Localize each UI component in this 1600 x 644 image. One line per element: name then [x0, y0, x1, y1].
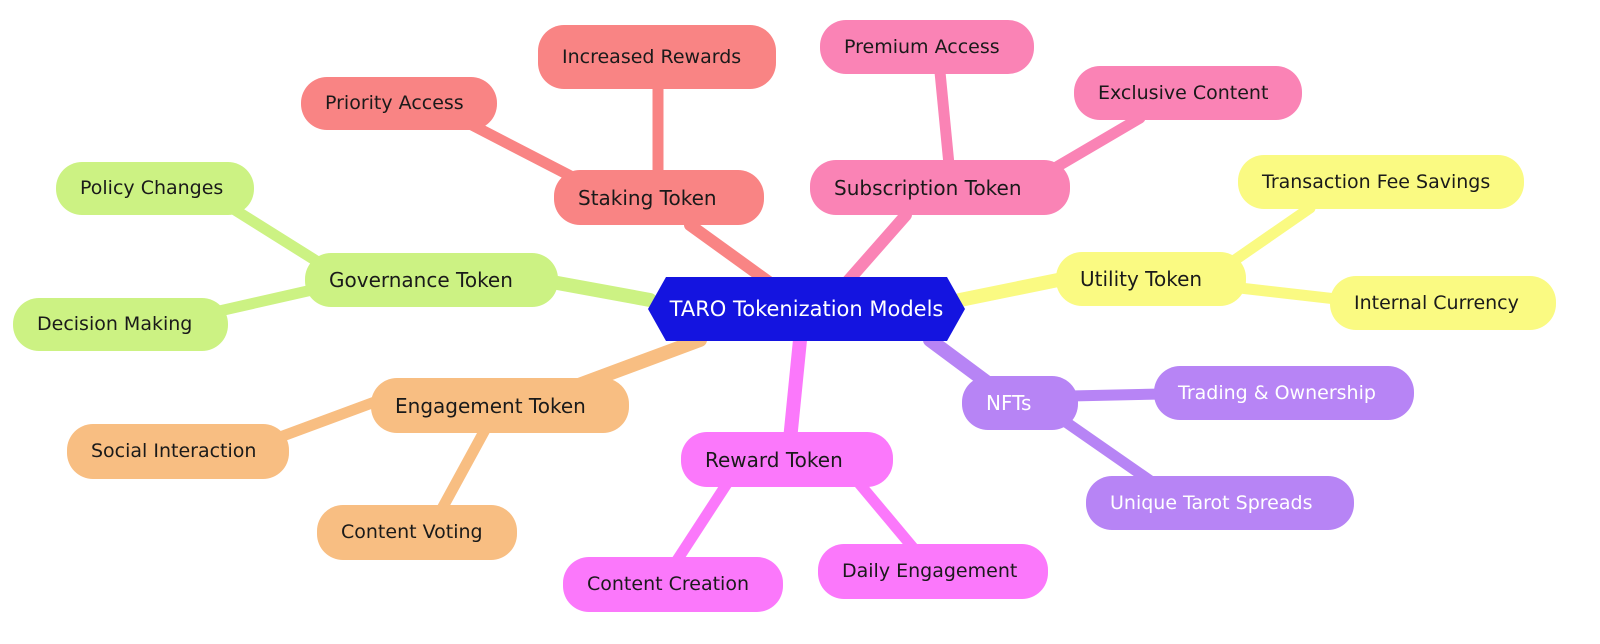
node-label-content-creation: Content Creation — [587, 575, 749, 594]
edge-root-utility — [960, 280, 1058, 300]
node-label-utility: Utility Token — [1080, 269, 1202, 289]
edge-sub-exclusive — [1048, 118, 1140, 172]
node-staking[interactable]: Staking Token — [554, 170, 764, 225]
node-engagement[interactable]: Engagement Token — [371, 378, 629, 433]
node-label-unique-tarot-spreads: Unique Tarot Spreads — [1110, 494, 1312, 513]
node-label-daily-engagement: Daily Engagement — [842, 562, 1017, 581]
node-social-interaction[interactable]: Social Interaction — [67, 424, 289, 479]
node-label-engagement: Engagement Token — [395, 396, 586, 416]
node-label-staking: Staking Token — [578, 188, 717, 208]
edge-root-governance — [552, 282, 650, 300]
node-label-increased-rewards: Increased Rewards — [562, 48, 741, 67]
node-premium-access[interactable]: Premium Access — [820, 20, 1034, 74]
node-exclusive-content[interactable]: Exclusive Content — [1074, 66, 1302, 120]
node-reward[interactable]: Reward Token — [681, 432, 893, 487]
node-decision-making[interactable]: Decision Making — [13, 298, 228, 351]
node-label-nfts: NFTs — [986, 393, 1031, 413]
node-label-exclusive-content: Exclusive Content — [1098, 84, 1268, 103]
node-label-social-interaction: Social Interaction — [91, 442, 256, 461]
node-increased-rewards[interactable]: Increased Rewards — [538, 25, 776, 89]
edge-gov-policy — [235, 210, 318, 262]
node-content-voting[interactable]: Content Voting — [317, 505, 517, 560]
node-trading-ownership[interactable]: Trading & Ownership — [1154, 366, 1414, 420]
edge-engagement-voting — [438, 428, 486, 516]
node-internal-currency[interactable]: Internal Currency — [1330, 276, 1556, 330]
edge-root-reward — [790, 340, 800, 440]
edge-nfts-trading — [1070, 394, 1162, 396]
mindmap-canvas: TARO Tokenization ModelsStaking TokenPri… — [0, 0, 1600, 644]
node-label-trading-ownership: Trading & Ownership — [1178, 384, 1376, 403]
node-content-creation[interactable]: Content Creation — [563, 557, 783, 612]
edge-gov-decision — [215, 290, 312, 312]
node-label-reward: Reward Token — [705, 450, 843, 470]
node-label-transaction-fee-savings: Transaction Fee Savings — [1262, 173, 1490, 192]
node-priority-access[interactable]: Priority Access — [301, 77, 497, 130]
node-unique-tarot-spreads[interactable]: Unique Tarot Spreads — [1086, 476, 1354, 530]
node-utility[interactable]: Utility Token — [1056, 252, 1246, 306]
node-subscription[interactable]: Subscription Token — [810, 160, 1070, 215]
node-label-governance: Governance Token — [329, 270, 513, 290]
node-policy-changes[interactable]: Policy Changes — [56, 162, 254, 215]
node-transaction-fee-savings[interactable]: Transaction Fee Savings — [1238, 155, 1524, 209]
node-governance[interactable]: Governance Token — [305, 253, 558, 307]
node-nfts[interactable]: NFTs — [962, 376, 1078, 430]
node-root[interactable]: TARO Tokenization Models — [648, 277, 965, 341]
node-label-decision-making: Decision Making — [37, 315, 192, 334]
edge-reward-creation — [672, 482, 728, 568]
node-label-premium-access: Premium Access — [844, 38, 1000, 57]
edge-utility-fee — [1232, 208, 1310, 262]
node-label-content-voting: Content Voting — [341, 523, 483, 542]
root-hexagon-shape — [648, 277, 965, 341]
edge-engagement-social — [272, 400, 380, 440]
node-daily-engagement[interactable]: Daily Engagement — [818, 544, 1048, 599]
node-label-policy-changes: Policy Changes — [80, 179, 223, 198]
node-label-internal-currency: Internal Currency — [1354, 294, 1519, 313]
node-label-priority-access: Priority Access — [325, 94, 464, 113]
node-label-subscription: Subscription Token — [834, 178, 1022, 198]
